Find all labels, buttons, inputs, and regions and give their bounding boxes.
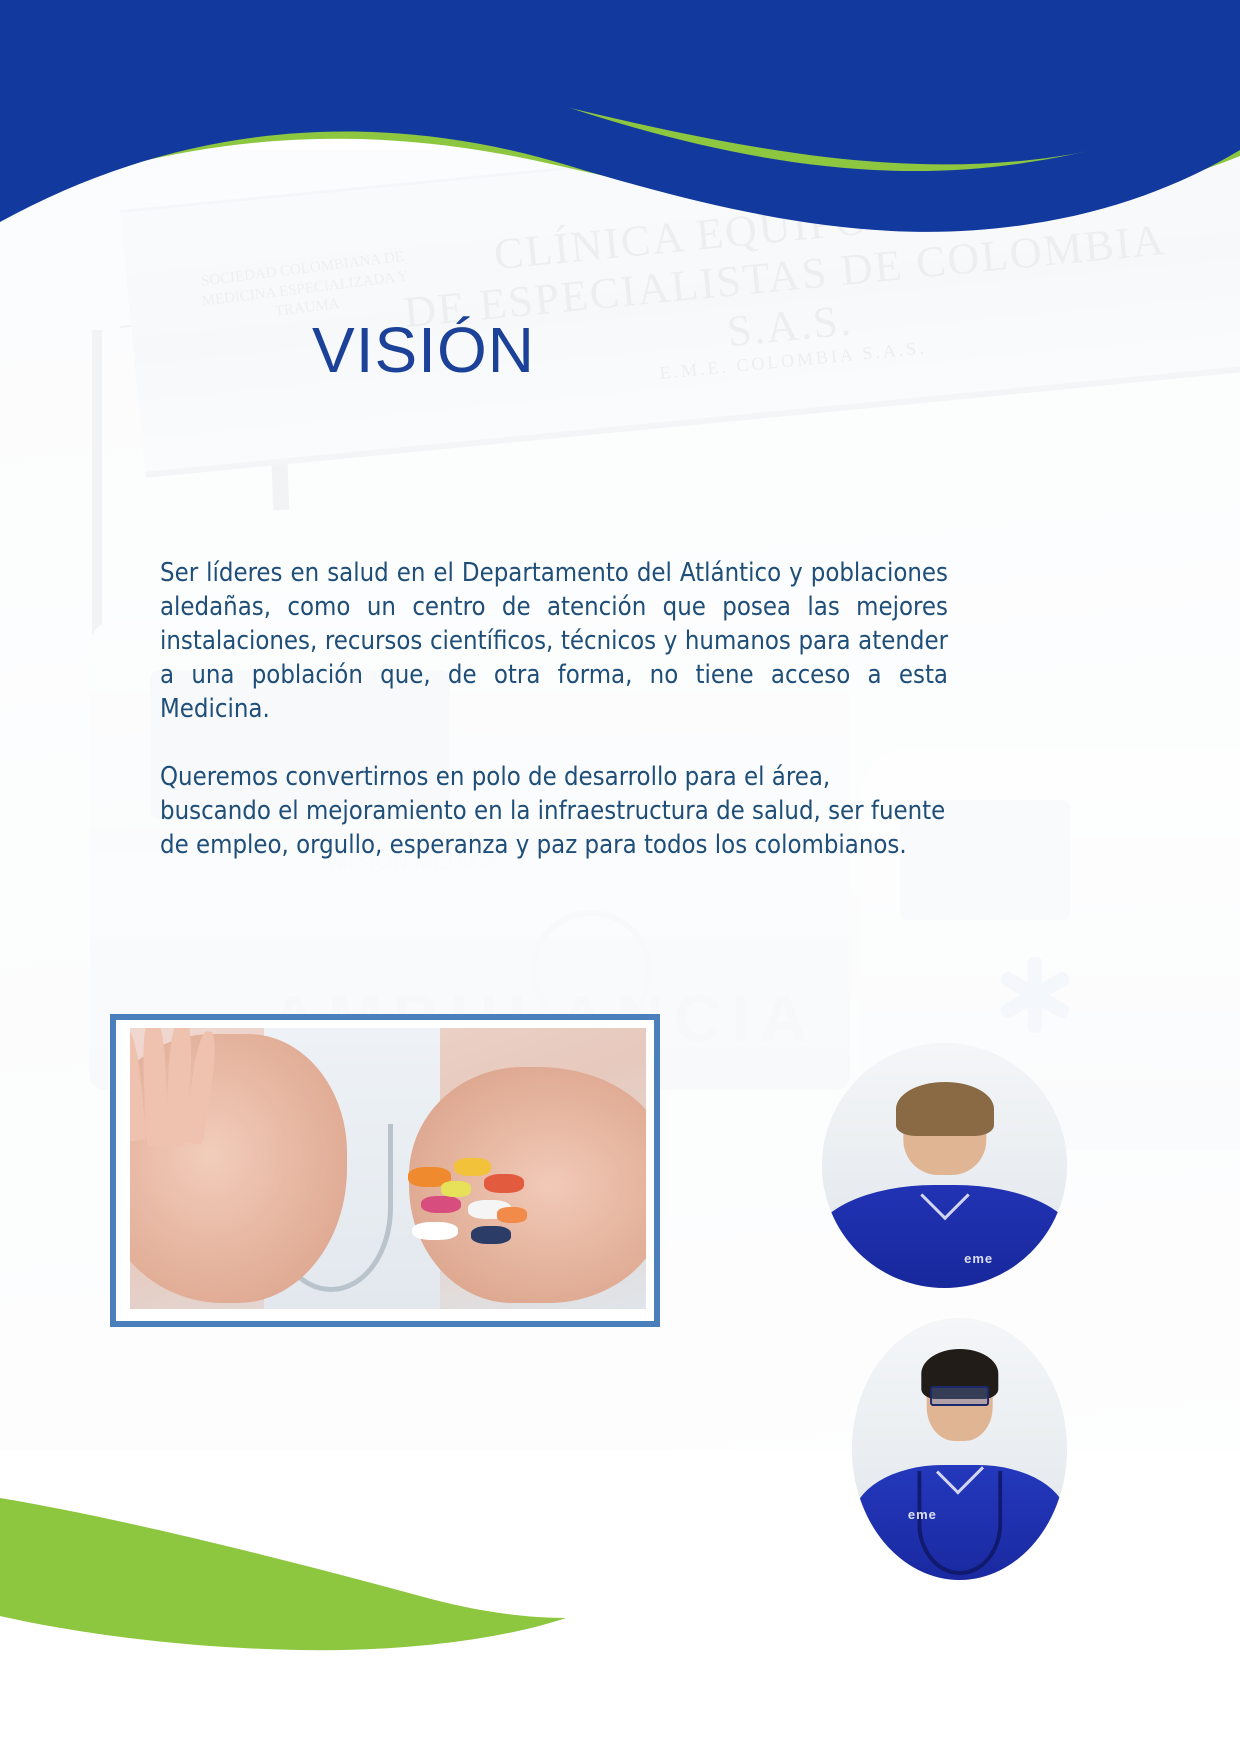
- page-title: VISIÓN: [312, 313, 535, 387]
- portrait-chest-logo: eme: [908, 1507, 937, 1522]
- vision-page: SOCIEDAD COLOMBIANA DE MEDICINA ESPECIAL…: [0, 0, 1240, 1756]
- pill: [412, 1222, 458, 1241]
- star-of-life-icon: [990, 950, 1080, 1040]
- framed-photo-pills: [110, 1014, 660, 1327]
- framed-photo-image: [130, 1028, 646, 1309]
- pill: [441, 1181, 471, 1196]
- portrait-stethoscope-icon: [917, 1471, 1002, 1575]
- vision-paragraph-2: Queremos convertirnos en polo de desarro…: [160, 760, 948, 862]
- pill: [421, 1196, 461, 1214]
- vision-body-text: Ser líderes en salud en el Departamento …: [160, 556, 948, 862]
- pill: [454, 1158, 490, 1176]
- pill: [497, 1207, 527, 1222]
- portrait-hair: [896, 1082, 994, 1136]
- portrait-glasses-icon: [930, 1386, 990, 1406]
- finger: [141, 1028, 168, 1147]
- left-hand: [130, 1034, 347, 1304]
- green-wave-bottom: [0, 1498, 566, 1650]
- pill: [471, 1226, 511, 1244]
- portrait-chest-logo: eme: [964, 1251, 993, 1266]
- portrait-doctor-2: eme: [852, 1318, 1067, 1580]
- pill: [484, 1174, 524, 1193]
- pills-group: [398, 1146, 563, 1264]
- vision-paragraph-1: Ser líderes en salud en el Departamento …: [160, 556, 948, 726]
- portrait-doctor-1: eme: [822, 1043, 1067, 1288]
